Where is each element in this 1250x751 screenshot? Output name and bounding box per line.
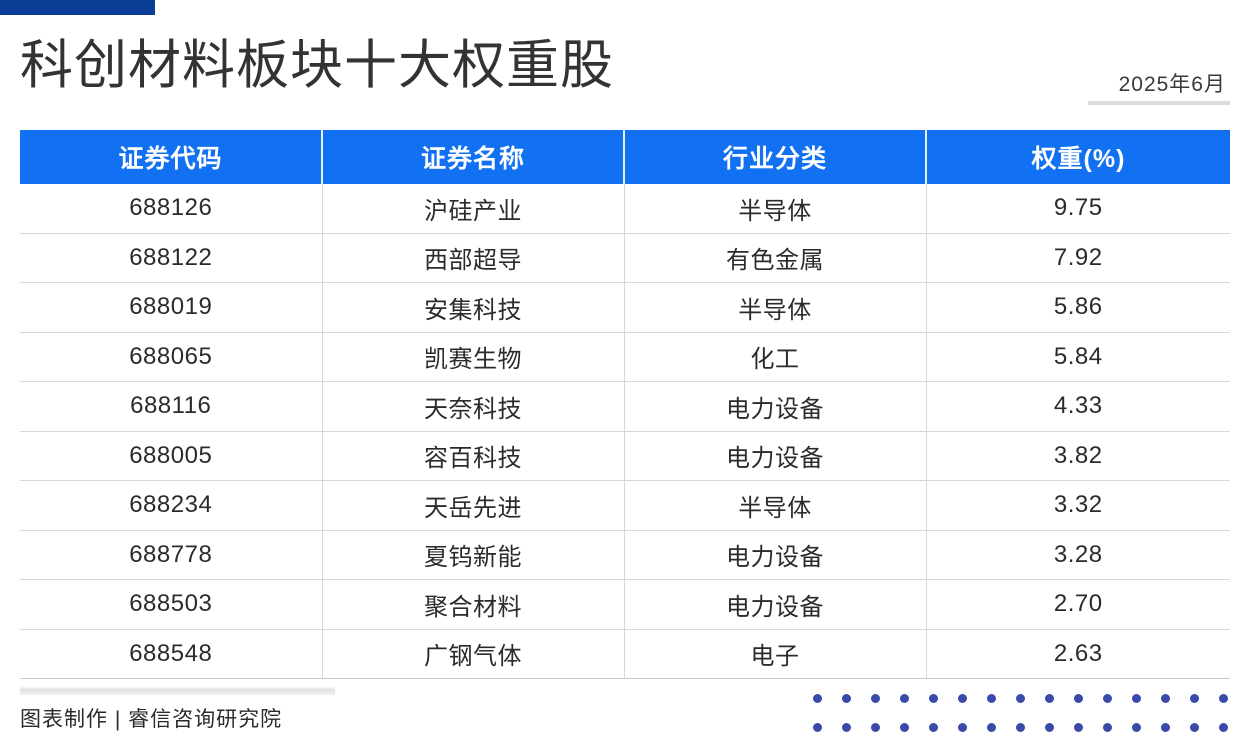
decorative-dot [842, 723, 851, 732]
decorative-dot [871, 694, 880, 703]
decorative-dot [1190, 694, 1199, 703]
cell-code: 688019 [20, 283, 322, 333]
cell-industry: 化工 [624, 332, 926, 382]
footer-divider [20, 686, 335, 695]
cell-name: 西部超导 [322, 233, 624, 283]
decorative-dot [813, 694, 822, 703]
cell-weight: 9.75 [926, 184, 1230, 233]
cell-weight: 5.84 [926, 332, 1230, 382]
date-underline [1088, 101, 1230, 105]
decorative-dot [958, 723, 967, 732]
table-row[interactable]: 688503聚合材料电力设备2.70 [20, 580, 1230, 630]
cell-industry: 电力设备 [624, 431, 926, 481]
table-row[interactable]: 688778夏钨新能电力设备3.28 [20, 530, 1230, 580]
cell-weight: 2.70 [926, 580, 1230, 630]
cell-code: 688126 [20, 184, 322, 233]
cell-name: 天岳先进 [322, 481, 624, 531]
decorative-dot [958, 694, 967, 703]
decorative-dot [1219, 723, 1228, 732]
decorative-dot [900, 694, 909, 703]
cell-code: 688005 [20, 431, 322, 481]
decorative-dot [900, 723, 909, 732]
decorative-dot [987, 723, 996, 732]
table-row[interactable]: 688019安集科技半导体5.86 [20, 283, 1230, 333]
cell-code: 688122 [20, 233, 322, 283]
cell-name: 广钢气体 [322, 629, 624, 679]
table-row[interactable]: 688548广钢气体电子2.63 [20, 629, 1230, 679]
decorative-dot [1103, 723, 1112, 732]
table-row[interactable]: 688065凯赛生物化工5.84 [20, 332, 1230, 382]
table-row[interactable]: 688122西部超导有色金属7.92 [20, 233, 1230, 283]
decorative-dot [987, 694, 996, 703]
table-row[interactable]: 688005容百科技电力设备3.82 [20, 431, 1230, 481]
cell-code: 688503 [20, 580, 322, 630]
decorative-dot [1045, 694, 1054, 703]
decorative-dot [1161, 723, 1170, 732]
cell-weight: 3.82 [926, 431, 1230, 481]
decorative-dot [842, 694, 851, 703]
table-row[interactable]: 688234天岳先进半导体3.32 [20, 481, 1230, 531]
cell-industry: 电力设备 [624, 580, 926, 630]
weights-table: 证券代码 证券名称 行业分类 权重(%) 688126沪硅产业半导体9.7568… [20, 130, 1230, 679]
cell-name: 沪硅产业 [322, 184, 624, 233]
cell-industry: 半导体 [624, 283, 926, 333]
decorative-dot [1016, 723, 1025, 732]
cell-weight: 4.33 [926, 382, 1230, 432]
page-header: 科创材料板块十大权重股 2025年6月 [0, 15, 1250, 125]
cell-code: 688548 [20, 629, 322, 679]
table-header-row: 证券代码 证券名称 行业分类 权重(%) [20, 130, 1230, 184]
column-header-industry[interactable]: 行业分类 [624, 130, 926, 184]
column-header-weight[interactable]: 权重(%) [926, 130, 1230, 184]
decorative-dot [1045, 723, 1054, 732]
decorative-dot-grid [803, 684, 1238, 742]
cell-industry: 电子 [624, 629, 926, 679]
cell-name: 安集科技 [322, 283, 624, 333]
decorative-dot [1016, 694, 1025, 703]
decorative-dot [813, 723, 822, 732]
decorative-dot [1219, 694, 1228, 703]
cell-industry: 有色金属 [624, 233, 926, 283]
cell-industry: 半导体 [624, 481, 926, 531]
cell-industry: 电力设备 [624, 382, 926, 432]
cell-weight: 5.86 [926, 283, 1230, 333]
column-header-name[interactable]: 证券名称 [322, 130, 624, 184]
cell-name: 天奈科技 [322, 382, 624, 432]
decorative-dot [1103, 694, 1112, 703]
top-accent-bar [0, 0, 155, 15]
page-title: 科创材料板块十大权重股 [20, 35, 614, 97]
cell-name: 夏钨新能 [322, 530, 624, 580]
column-header-code[interactable]: 证券代码 [20, 130, 322, 184]
decorative-dot [1132, 694, 1141, 703]
decorative-dot [929, 723, 938, 732]
decorative-dot [1190, 723, 1199, 732]
decorative-dot [1132, 723, 1141, 732]
decorative-dot [929, 694, 938, 703]
decorative-dot [1074, 694, 1083, 703]
cell-code: 688116 [20, 382, 322, 432]
decorative-dot [1161, 694, 1170, 703]
decorative-dot [871, 723, 880, 732]
cell-weight: 2.63 [926, 629, 1230, 679]
footer-credit: 图表制作 | 睿信咨询研究院 [20, 706, 282, 734]
date-stamp: 2025年6月 [1088, 72, 1230, 105]
table-body: 688126沪硅产业半导体9.75688122西部超导有色金属7.9268801… [20, 184, 1230, 679]
date-label: 2025年6月 [1115, 72, 1230, 101]
cell-name: 容百科技 [322, 431, 624, 481]
cell-name: 聚合材料 [322, 580, 624, 630]
cell-weight: 3.32 [926, 481, 1230, 531]
cell-code: 688778 [20, 530, 322, 580]
cell-industry: 电力设备 [624, 530, 926, 580]
cell-name: 凯赛生物 [322, 332, 624, 382]
decorative-dot [1074, 723, 1083, 732]
table-row[interactable]: 688116天奈科技电力设备4.33 [20, 382, 1230, 432]
cell-weight: 7.92 [926, 233, 1230, 283]
cell-code: 688234 [20, 481, 322, 531]
cell-industry: 半导体 [624, 184, 926, 233]
table-row[interactable]: 688126沪硅产业半导体9.75 [20, 184, 1230, 233]
cell-weight: 3.28 [926, 530, 1230, 580]
cell-code: 688065 [20, 332, 322, 382]
